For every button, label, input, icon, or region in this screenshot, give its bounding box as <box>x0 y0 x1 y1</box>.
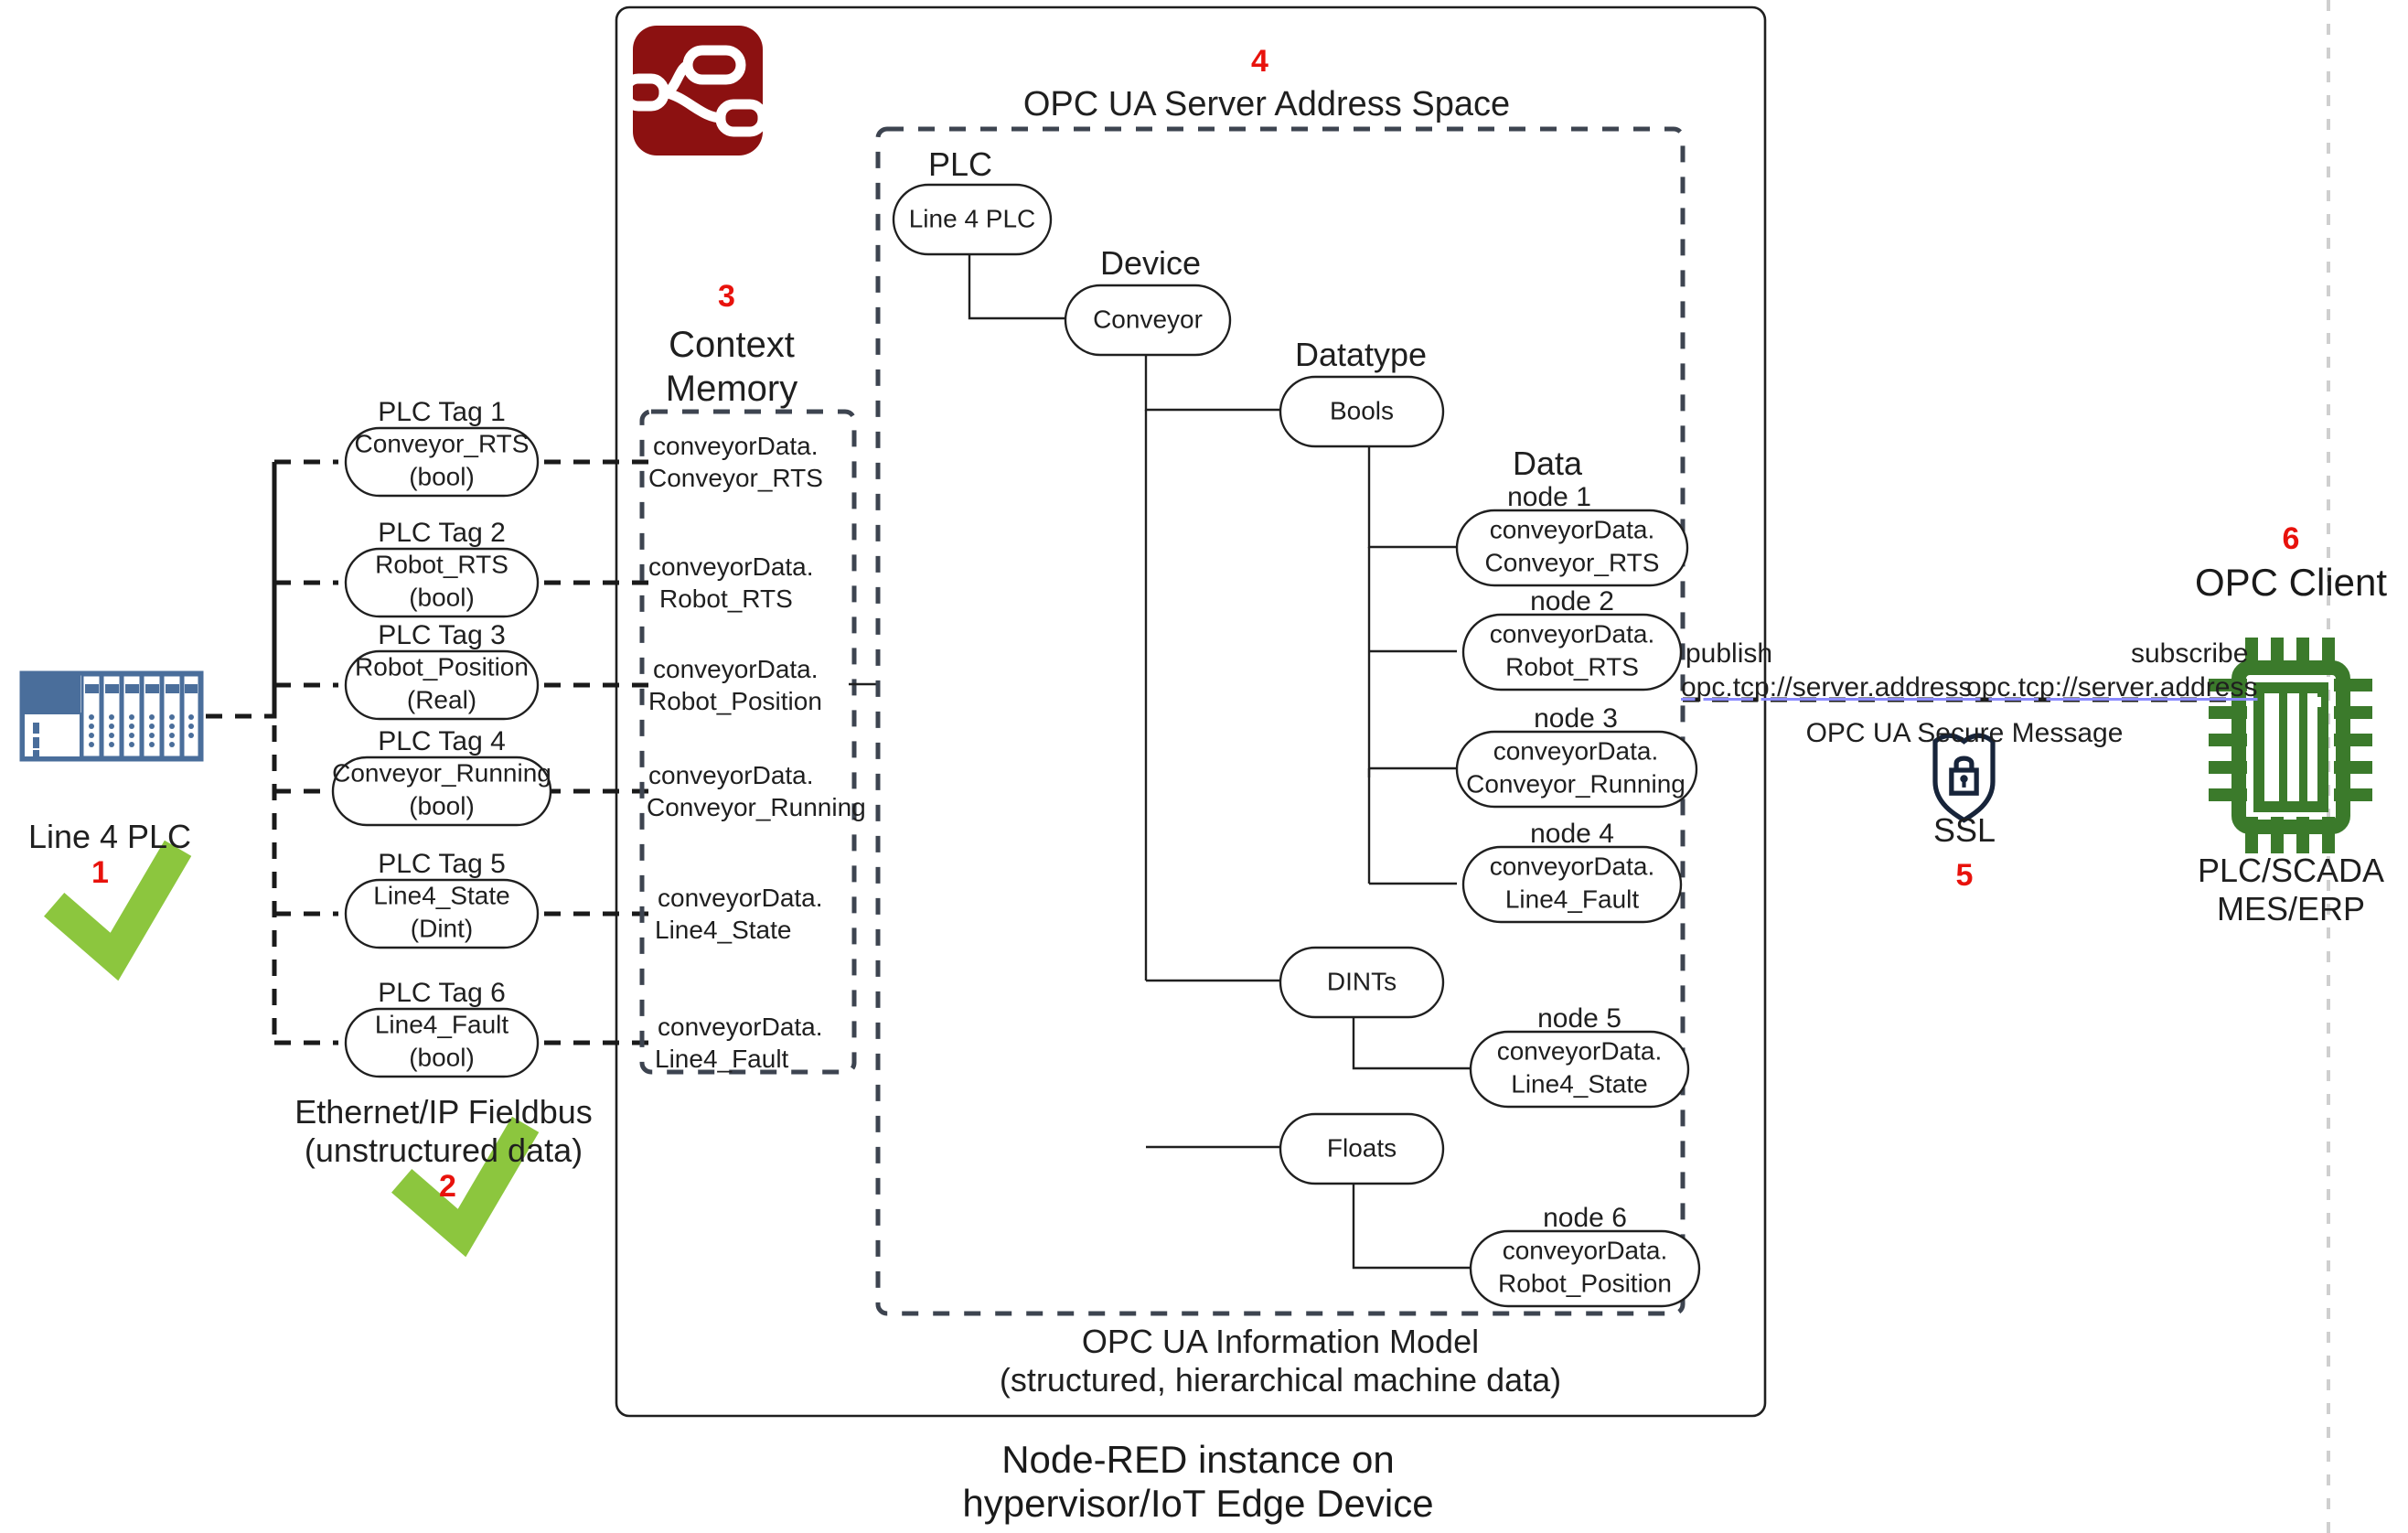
tree-group-plc-label: PLC <box>928 146 992 183</box>
plc-tag-name-3[interactable]: Robot_Position <box>355 654 529 682</box>
context-entry-3-line1: conveyorData. <box>653 655 819 683</box>
data-node-caption-1: node 1 <box>1507 482 1591 513</box>
tree-group-data-label: Data <box>1513 445 1582 482</box>
plc-tag-caption-3: PLC Tag 3 <box>378 620 506 651</box>
context-entry-4-line2: Conveyor_Running <box>647 793 866 821</box>
marker-6: 6 <box>2283 521 2300 556</box>
info-model-line1: OPC UA Information Model <box>1082 1324 1479 1360</box>
tag-to-context-links <box>544 462 649 1043</box>
plc-rack-icon <box>22 673 201 759</box>
context-memory-title-2: Memory <box>666 369 797 410</box>
tree-node-plc-label[interactable]: Line 4 PLC <box>909 206 1036 234</box>
opc-client-sub-line2: MES/ERP <box>2217 891 2365 927</box>
info-model-line2: (structured, hierarchical machine data) <box>1000 1362 1561 1399</box>
fieldbus-label-line1: Ethernet/IP Fieldbus <box>294 1094 593 1131</box>
context-entry-4-line1: conveyorData. <box>648 761 814 789</box>
opc-client-sub-line1: PLC/SCADA <box>2198 852 2384 889</box>
data-node-caption-4: node 4 <box>1530 819 1614 850</box>
context-memory-box <box>642 412 854 1072</box>
context-entry-5-line2: Line4_State <box>655 916 791 944</box>
data-node-5-line2: Line4_State <box>1511 1071 1647 1099</box>
tree-group-datatype-label: Datatype <box>1295 337 1427 373</box>
data-node-caption-5: node 5 <box>1537 1003 1621 1035</box>
tree-node-bools-label[interactable]: Bools <box>1330 398 1394 426</box>
plc-tag-caption-1: PLC Tag 1 <box>378 397 506 428</box>
data-node-caption-6: node 6 <box>1543 1203 1627 1234</box>
plc-tag-name-5[interactable]: Line4_State <box>373 883 509 911</box>
plc-tag-name-4[interactable]: Conveyor_Running <box>332 760 551 788</box>
context-entry-2-line1: conveyorData. <box>648 552 814 581</box>
context-entry-1-line2: Conveyor_RTS <box>648 464 823 492</box>
publish-url[interactable]: opc.tcp://server.address <box>1681 672 1973 703</box>
marker-4: 4 <box>1251 44 1268 79</box>
plc-tag-caption-4: PLC Tag 4 <box>378 726 506 757</box>
tree-node-device-label[interactable]: Conveyor <box>1093 306 1203 335</box>
plc-tag-caption-5: PLC Tag 5 <box>378 849 506 880</box>
plc-tag-caption-2: PLC Tag 2 <box>378 518 506 549</box>
data-node-6-line2: Robot_Position <box>1498 1270 1672 1299</box>
diagram-canvas: .solid{stroke:#1f1f1f;stroke-width:2.4;f… <box>0 0 2408 1533</box>
plc-tag-caption-6: PLC Tag 6 <box>378 978 506 1009</box>
bottom-title-line1: Node-RED instance on <box>1001 1438 1395 1481</box>
data-node-3-line2: Conveyor_Running <box>1466 771 1686 799</box>
plc-tag-type-2: (bool) <box>409 584 475 613</box>
check-icon-1 <box>66 862 170 957</box>
cpu-chip-icon <box>2209 638 2372 853</box>
data-node-3-line1[interactable]: conveyorData. <box>1493 738 1659 766</box>
subscribe-url[interactable]: opc.tcp://server.address <box>1966 672 2258 703</box>
data-node-1-line1[interactable]: conveyorData. <box>1490 517 1655 545</box>
bottom-title-line2: hypervisor/IoT Edge Device <box>962 1482 1433 1525</box>
marker-5: 5 <box>1956 858 1974 893</box>
fieldbus-dashed-bus <box>206 462 338 1043</box>
context-entry-5-line1: conveyorData. <box>658 884 823 912</box>
data-node-caption-3: node 3 <box>1534 703 1618 734</box>
tree-node-floats-label[interactable]: Floats <box>1327 1135 1397 1163</box>
data-node-2-line2: Robot_RTS <box>1505 654 1639 682</box>
plc-tag-type-6: (bool) <box>409 1045 475 1073</box>
tree-node-dints-label[interactable]: DINTs <box>1327 969 1397 997</box>
plc-tag-type-3: (Real) <box>407 687 476 715</box>
marker-1: 1 <box>91 855 109 890</box>
address-space-tree-edges <box>969 254 1471 1268</box>
node-red-logo-icon <box>626 26 763 155</box>
fieldbus-label-line2: (unstructured data) <box>305 1132 583 1169</box>
tree-group-device-label: Device <box>1100 245 1201 282</box>
context-entry-3-line2: Robot_Position <box>648 687 822 715</box>
plc-tag-type-4: (bool) <box>409 793 475 821</box>
publish-label: publish <box>1686 638 1772 670</box>
context-entry-1-line1: conveyorData. <box>653 432 819 460</box>
data-node-2-line1[interactable]: conveyorData. <box>1490 621 1655 649</box>
plc-tag-type-5: (Dint) <box>411 916 473 944</box>
context-entry-2-line2: Robot_RTS <box>659 584 793 613</box>
data-node-4-line1[interactable]: conveyorData. <box>1490 853 1655 882</box>
plc-tag-name-2[interactable]: Robot_RTS <box>375 552 508 580</box>
context-memory-title-1: Context <box>669 325 795 366</box>
data-node-caption-2: node 2 <box>1530 586 1614 617</box>
ssl-label: SSL <box>1933 812 1996 849</box>
plc-tag-name-1[interactable]: Conveyor_RTS <box>355 431 530 459</box>
data-node-5-line1[interactable]: conveyorData. <box>1497 1038 1663 1067</box>
data-node-1-line2: Conveyor_RTS <box>1485 550 1660 578</box>
data-node-6-line1[interactable]: conveyorData. <box>1503 1238 1668 1266</box>
marker-2: 2 <box>439 1169 456 1204</box>
data-node-4-line2: Line4_Fault <box>1505 886 1639 915</box>
plc-caption: Line 4 PLC <box>28 819 191 855</box>
secure-message-label: OPC UA Secure Message <box>1806 718 2124 749</box>
context-entry-6-line1: conveyorData. <box>658 1013 823 1041</box>
marker-3: 3 <box>718 279 735 314</box>
address-space-title: OPC UA Server Address Space <box>1023 85 1510 124</box>
opc-client-title: OPC Client <box>2195 561 2387 604</box>
plc-tag-name-6[interactable]: Line4_Fault <box>375 1012 508 1040</box>
context-entry-6-line2: Line4_Fault <box>655 1045 788 1073</box>
plc-tag-type-1: (bool) <box>409 464 475 492</box>
subscribe-label: subscribe <box>2131 638 2248 670</box>
